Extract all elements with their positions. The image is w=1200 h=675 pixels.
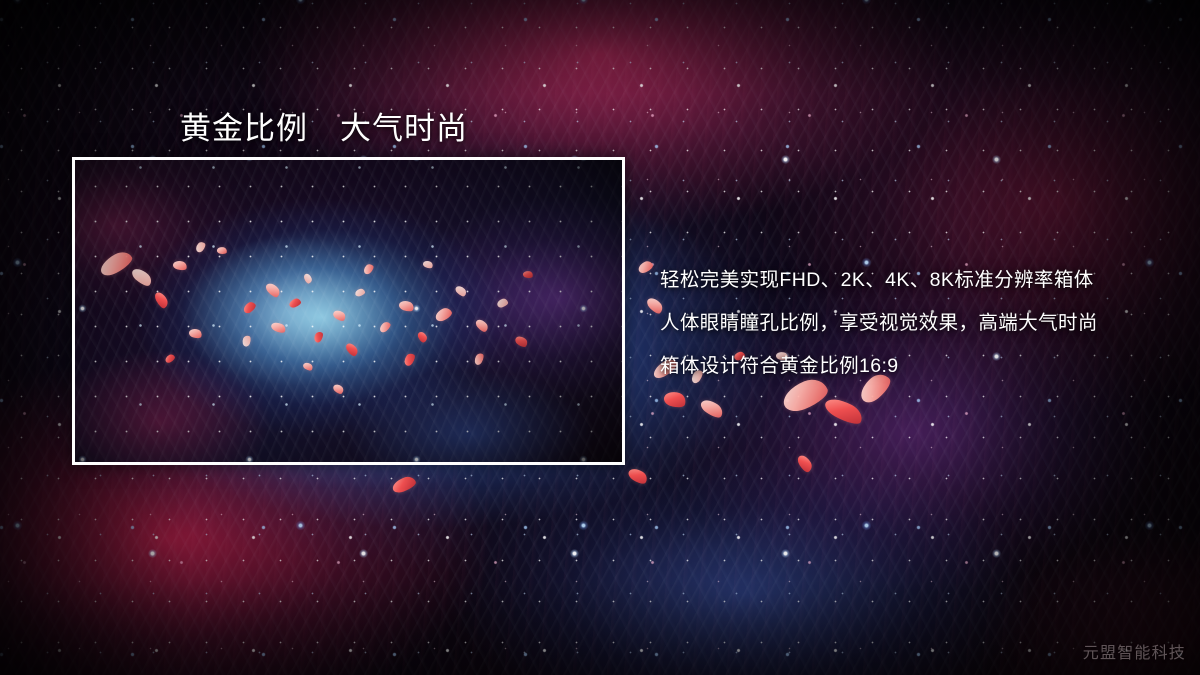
page-title: 黄金比例 大气时尚 [180,103,468,148]
framed-image-16x9 [72,157,625,465]
slide-canvas: 黄金比例 大气时尚 轻松完美实现FHD、2K、4K、8K标准分辨率箱体 人体眼睛… [0,0,1200,675]
framed-vignette [75,160,622,462]
framed-image-content [75,160,622,462]
body-line-2: 人体眼睛瞳孔比例，享受视觉效果，高端大气时尚 [660,302,1190,345]
watermark-brand: 元盟智能科技 [1083,639,1186,663]
body-copy-block: 轻松完美实现FHD、2K、4K、8K标准分辨率箱体 人体眼睛瞳孔比例，享受视觉效… [660,259,1190,388]
body-line-3: 箱体设计符合黄金比例16:9 [660,345,1190,388]
body-line-1: 轻松完美实现FHD、2K、4K、8K标准分辨率箱体 [660,259,1190,302]
